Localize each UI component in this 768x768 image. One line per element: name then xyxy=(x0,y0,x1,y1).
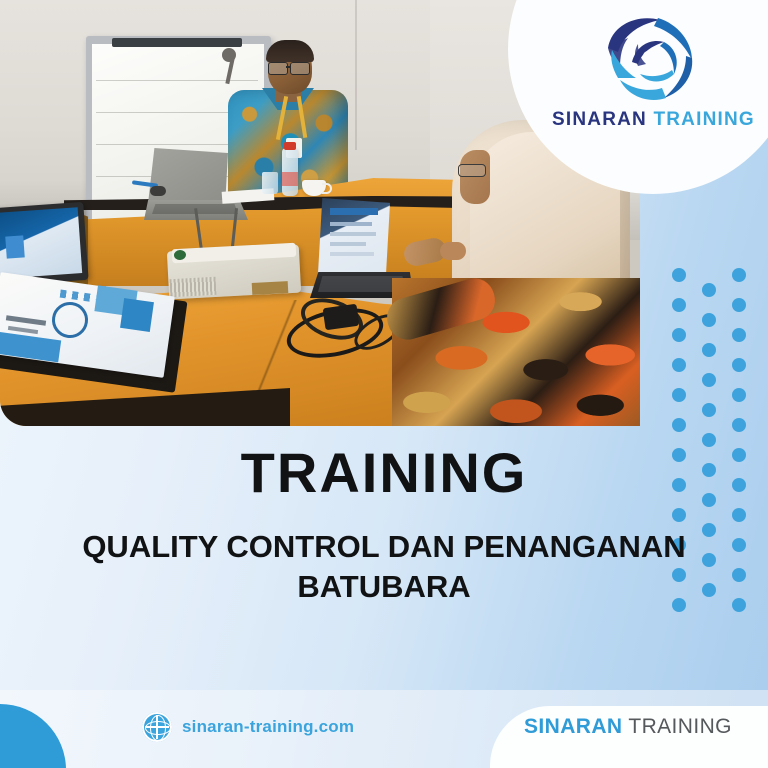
dot xyxy=(702,343,716,357)
footer-brand-primary: SINARAN xyxy=(524,715,622,738)
dot xyxy=(732,358,746,372)
brand-name-secondary: TRAINING xyxy=(647,109,755,130)
power-adapter xyxy=(323,304,360,331)
instructor-glasses-bridge xyxy=(286,66,291,68)
projector-vent xyxy=(170,277,217,297)
dot xyxy=(732,328,746,342)
dot xyxy=(672,358,686,372)
dot xyxy=(732,388,746,402)
dot xyxy=(732,298,746,312)
dot xyxy=(672,388,686,402)
page-title: TRAINING xyxy=(0,444,768,503)
dot xyxy=(702,403,716,417)
wall-seam-secondary xyxy=(355,0,357,150)
computer-mouse xyxy=(150,186,166,196)
dot xyxy=(702,313,716,327)
bottle-cap xyxy=(284,142,296,150)
bottle-label xyxy=(282,172,298,186)
drinking-glass xyxy=(262,172,278,194)
dot xyxy=(732,268,746,282)
globe-parallel xyxy=(145,721,171,735)
laptop-screen-ui-line xyxy=(330,222,372,226)
footer-brand-secondary: TRAINING xyxy=(622,715,731,738)
flipchart-ruled-line xyxy=(96,80,258,81)
brand-logo-text: SINARAN TRAINING xyxy=(552,109,752,131)
flipchart-clip xyxy=(112,38,242,47)
dot xyxy=(702,283,716,297)
participant-glasses xyxy=(458,164,486,177)
monitor-screen-icon xyxy=(5,235,24,258)
page-subtitle: QUALITY CONTROL DAN PENANGANAN BATUBARA xyxy=(0,527,768,608)
laptop-screen-ui-line xyxy=(330,232,376,236)
instructor-hair xyxy=(266,40,314,62)
dot xyxy=(702,373,716,387)
footer-brand-logo: SINARAN TRAINING xyxy=(524,715,732,739)
laptop-screen-ui-line xyxy=(330,242,366,246)
footer: sinaran-training.com SINARAN TRAINING xyxy=(0,690,768,768)
projector-label xyxy=(252,281,289,295)
dot xyxy=(672,298,686,312)
participant-face xyxy=(460,150,490,204)
laptop-screen-ui-bar xyxy=(330,208,378,215)
brand-logo: SINARAN TRAINING xyxy=(552,8,752,148)
website-url: sinaran-training.com xyxy=(182,717,354,737)
globe-icon xyxy=(142,712,172,742)
website-link[interactable]: sinaran-training.com xyxy=(142,712,354,742)
dot xyxy=(672,268,686,282)
folder-graphic-square xyxy=(120,298,154,332)
dot xyxy=(672,328,686,342)
instructor-glasses-left xyxy=(268,62,288,75)
title-block: TRAINING QUALITY CONTROL DAN PENANGANAN … xyxy=(0,430,768,607)
swirl-vortex-icon xyxy=(592,8,712,113)
participant-hand xyxy=(440,242,466,260)
instructor-glasses-right xyxy=(290,62,310,75)
poster-canvas: SINARAN TRAINING TRAINING QUALITY CONTRO… xyxy=(0,0,768,768)
brand-name-primary: SINARAN xyxy=(552,109,647,130)
laptop-screen-ui-line xyxy=(330,252,374,256)
